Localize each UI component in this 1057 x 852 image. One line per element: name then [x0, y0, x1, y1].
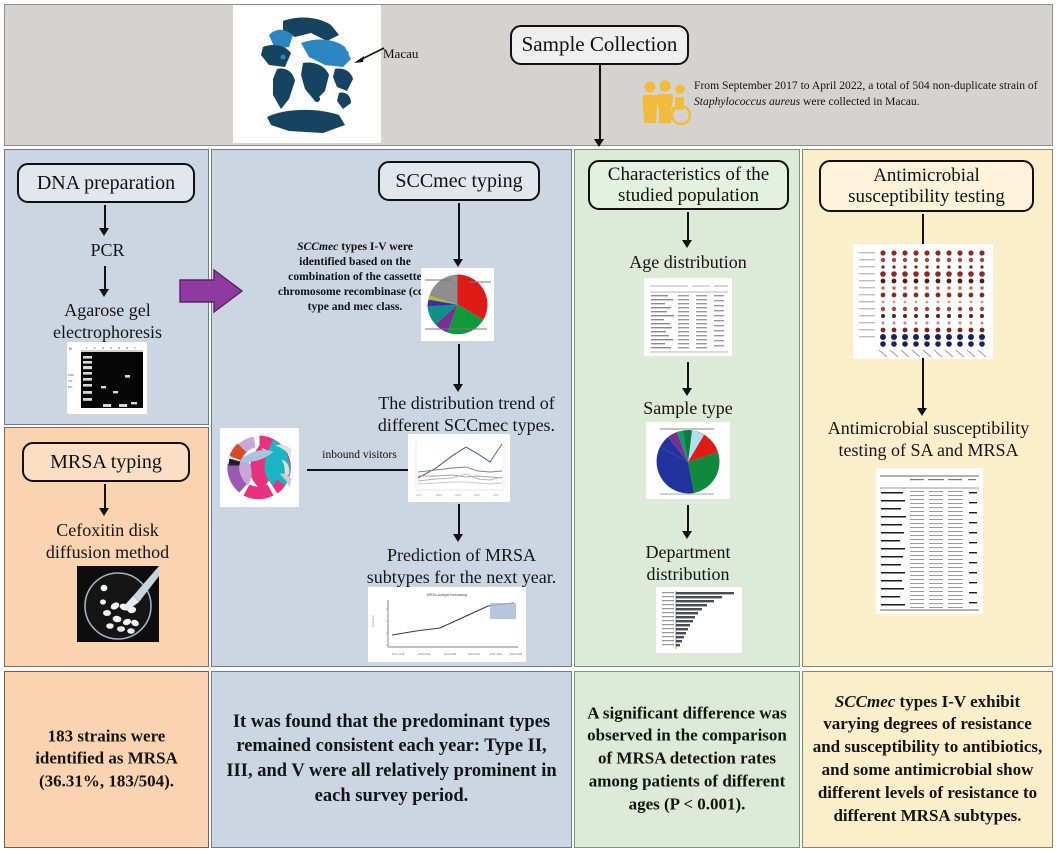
svg-text:2019-2020: 2019-2020 — [444, 652, 457, 656]
characteristics-title-line2: studied population — [618, 185, 759, 206]
svg-text:2021-2022: 2021-2022 — [490, 652, 503, 656]
petri-dish-image — [77, 566, 159, 642]
panel-sccmec-typing: SCCmec typing SCCmec types I-V were iden… — [211, 149, 572, 667]
conclusion-mrsa: 183 strains were identified as MRSA (36.… — [4, 671, 209, 848]
sample-collection-title: Sample Collection — [510, 25, 689, 65]
svg-text:2017: 2017 — [416, 493, 422, 497]
sccmec-arrow3-line — [458, 504, 460, 536]
mrsa-step-cefoxitin-line2: diffusion method — [5, 542, 210, 564]
characteristics-title-line1: Characteristics of the — [608, 164, 769, 185]
ast-title-line2: susceptibility testing — [848, 186, 1005, 207]
sccmec-step-prediction: Prediction of MRSA subtypes for the next… — [350, 545, 573, 588]
age-distribution-table — [644, 278, 732, 356]
mrsa-arrow1-line — [104, 484, 106, 510]
agarose-gel-image: M 123 456 7 1000750500 — [67, 342, 147, 414]
characteristics-title: Characteristics of the studied populatio… — [588, 160, 789, 210]
sccmec-trend-line-chart: 201720182019 20202021 — [408, 434, 510, 502]
inbound-visitors-arrow-line — [307, 469, 412, 471]
char-arrow2-line — [687, 362, 689, 390]
susceptibility-results-table — [876, 468, 983, 614]
conclusion-mrsa-line2: identified as MRSA — [14, 748, 199, 771]
char-step-department: Department distribution — [575, 542, 801, 585]
svg-text:750: 750 — [68, 379, 73, 383]
sample-collection-connector-head — [594, 139, 604, 147]
sccmec-arrow3-head — [453, 534, 463, 542]
svg-text:2018-2019: 2018-2019 — [418, 652, 431, 656]
intro-paragraph: From September 2017 to April 2022, a tot… — [694, 78, 1040, 109]
conclusion-sccmec: It was found that the predominant types … — [211, 671, 572, 848]
dna-arrow2-head — [99, 289, 109, 297]
conclusion-characteristics-text: A significant difference was observed in… — [584, 702, 790, 817]
dna-step-pcr: PCR — [5, 240, 210, 262]
intro-text-part2: were collected in Macau. — [800, 95, 919, 108]
char-step-age-distribution: Age distribution — [575, 252, 801, 274]
char-arrow1-line — [687, 212, 689, 242]
svg-text:2020: 2020 — [474, 493, 480, 497]
sccmec-typing-title: SCCmec typing — [378, 161, 540, 201]
ast-step-results: Antimicrobial susceptibility testing of … — [805, 418, 1052, 461]
svg-text:2017-2018: 2017-2018 — [392, 652, 405, 656]
mrsa-typing-title: MRSA typing — [22, 442, 190, 482]
panel-characteristics: Characteristics of the studied populatio… — [574, 149, 800, 667]
sccmec-step-distribution-line2: different SCCmec types. — [360, 415, 573, 437]
conclusion-ast-text: SCCmec types I-V exhibit varying degrees… — [812, 691, 1043, 829]
ast-step-results-line2: testing of SA and MRSA — [805, 440, 1052, 462]
sample-collection-connector-line — [599, 65, 601, 141]
svg-text:2019: 2019 — [455, 493, 461, 497]
sccmec-step-prediction-line1: Prediction of MRSA — [350, 545, 573, 567]
inbound-visitors-chord-diagram — [220, 428, 299, 507]
mrsa-step-cefoxitin-line1: Cefoxitin disk — [5, 520, 210, 542]
svg-text:MRSA subtype forecasting: MRSA subtype forecasting — [427, 593, 467, 597]
sccmec-step-distribution: The distribution trend of different SCCm… — [360, 393, 573, 436]
dna-preparation-title: DNA preparation — [17, 163, 195, 203]
dna-arrow1-line — [104, 205, 106, 230]
dna-arrow1-head — [99, 228, 109, 236]
svg-text:500: 500 — [68, 385, 73, 389]
ast-title: Antimicrobial susceptibility testing — [819, 160, 1034, 212]
conclusion-mrsa-line3: (36.31%, 183/504). — [14, 771, 199, 794]
ast-arrow2-line — [922, 358, 924, 410]
mrsa-step-cefoxitin: Cefoxitin disk diffusion method — [5, 520, 210, 563]
char-step-sample-type: Sample type — [575, 398, 801, 420]
sample-type-pie-chart — [646, 422, 730, 499]
globe-svg — [239, 13, 375, 137]
globe-macau-label: Macau — [383, 46, 418, 62]
conclusion-ast-italic: SCCmec — [835, 692, 895, 711]
svg-text:2022-2023: 2022-2023 — [510, 652, 523, 656]
intro-text-italic: Staphylococcus aureus — [694, 95, 800, 108]
svg-text:2020-2021: 2020-2021 — [468, 652, 481, 656]
people-icon — [641, 80, 691, 126]
panel-antimicrobial-susceptibility: Antimicrobial susceptibility testing — [802, 149, 1053, 667]
intro-text-part1: From September 2017 to April 2022, a tot… — [694, 79, 1038, 92]
globe-image — [233, 5, 381, 143]
department-distribution-bar-chart — [656, 587, 742, 653]
sccmec-arrow2-head — [453, 384, 463, 392]
conclusion-mrsa-text: 183 strains were identified as MRSA (36.… — [14, 725, 199, 794]
macau-pointer-arrow — [352, 44, 386, 66]
ast-arrow1-line — [922, 214, 924, 247]
inbound-visitors-label: inbound visitors — [307, 448, 412, 463]
sccmec-pie-chart — [421, 268, 494, 341]
char-arrow3-head — [682, 531, 692, 539]
char-arrow3-line — [687, 505, 689, 533]
panel-mrsa-typing: MRSA typing Cefoxitin disk diffusion met… — [4, 427, 209, 667]
char-step-department-line1: Department — [575, 542, 801, 564]
sccmec-step-distribution-line1: The distribution trend of — [360, 393, 573, 415]
char-step-department-line2: distribution — [575, 564, 801, 586]
svg-text:2018: 2018 — [436, 493, 442, 497]
sccmec-arrow1-head — [453, 259, 463, 267]
svg-text:Proportion: Proportion — [371, 614, 375, 627]
ast-step-results-line1: Antimicrobial susceptibility — [805, 418, 1052, 440]
svg-text:M: M — [69, 347, 72, 351]
conclusion-sccmec-text: It was found that the predominant types … — [221, 710, 562, 810]
figure-root: Macau Sample Collection From September 2… — [0, 0, 1057, 852]
sccmec-arrow2-line — [458, 344, 460, 386]
char-arrow2-head — [682, 388, 692, 396]
dna-arrow2-line — [104, 266, 106, 291]
svg-text:2021: 2021 — [493, 493, 499, 497]
ast-arrow2-head — [917, 408, 927, 416]
mrsa-arrow1-head — [99, 508, 109, 516]
sccmec-arrow1-line — [458, 203, 460, 261]
conclusion-characteristics: A significant difference was observed in… — [574, 671, 800, 848]
conclusion-mrsa-line1: 183 strains were — [14, 725, 199, 748]
sccmec-step-prediction-line2: subtypes for the next year. — [350, 567, 573, 589]
char-arrow1-head — [682, 240, 692, 248]
svg-text:1000: 1000 — [68, 373, 74, 377]
antibiotic-resistance-dot-plot — [853, 244, 993, 359]
sccmec-method-note: SCCmec types I-V were identified based o… — [275, 239, 435, 314]
sccmec-method-note-italic: SCCmec — [297, 240, 338, 253]
conclusion-ast-rest: types I-V exhibit varying degrees of res… — [813, 692, 1043, 826]
dna-step-agarose-line2: electrophoresis — [5, 322, 210, 344]
conclusion-ast: SCCmec types I-V exhibit varying degrees… — [802, 671, 1053, 848]
ast-title-line1: Antimicrobial — [873, 165, 980, 186]
mrsa-forecast-chart: MRSA subtype forecasting Proportion 2017… — [368, 587, 526, 662]
purple-process-arrow — [178, 268, 244, 314]
